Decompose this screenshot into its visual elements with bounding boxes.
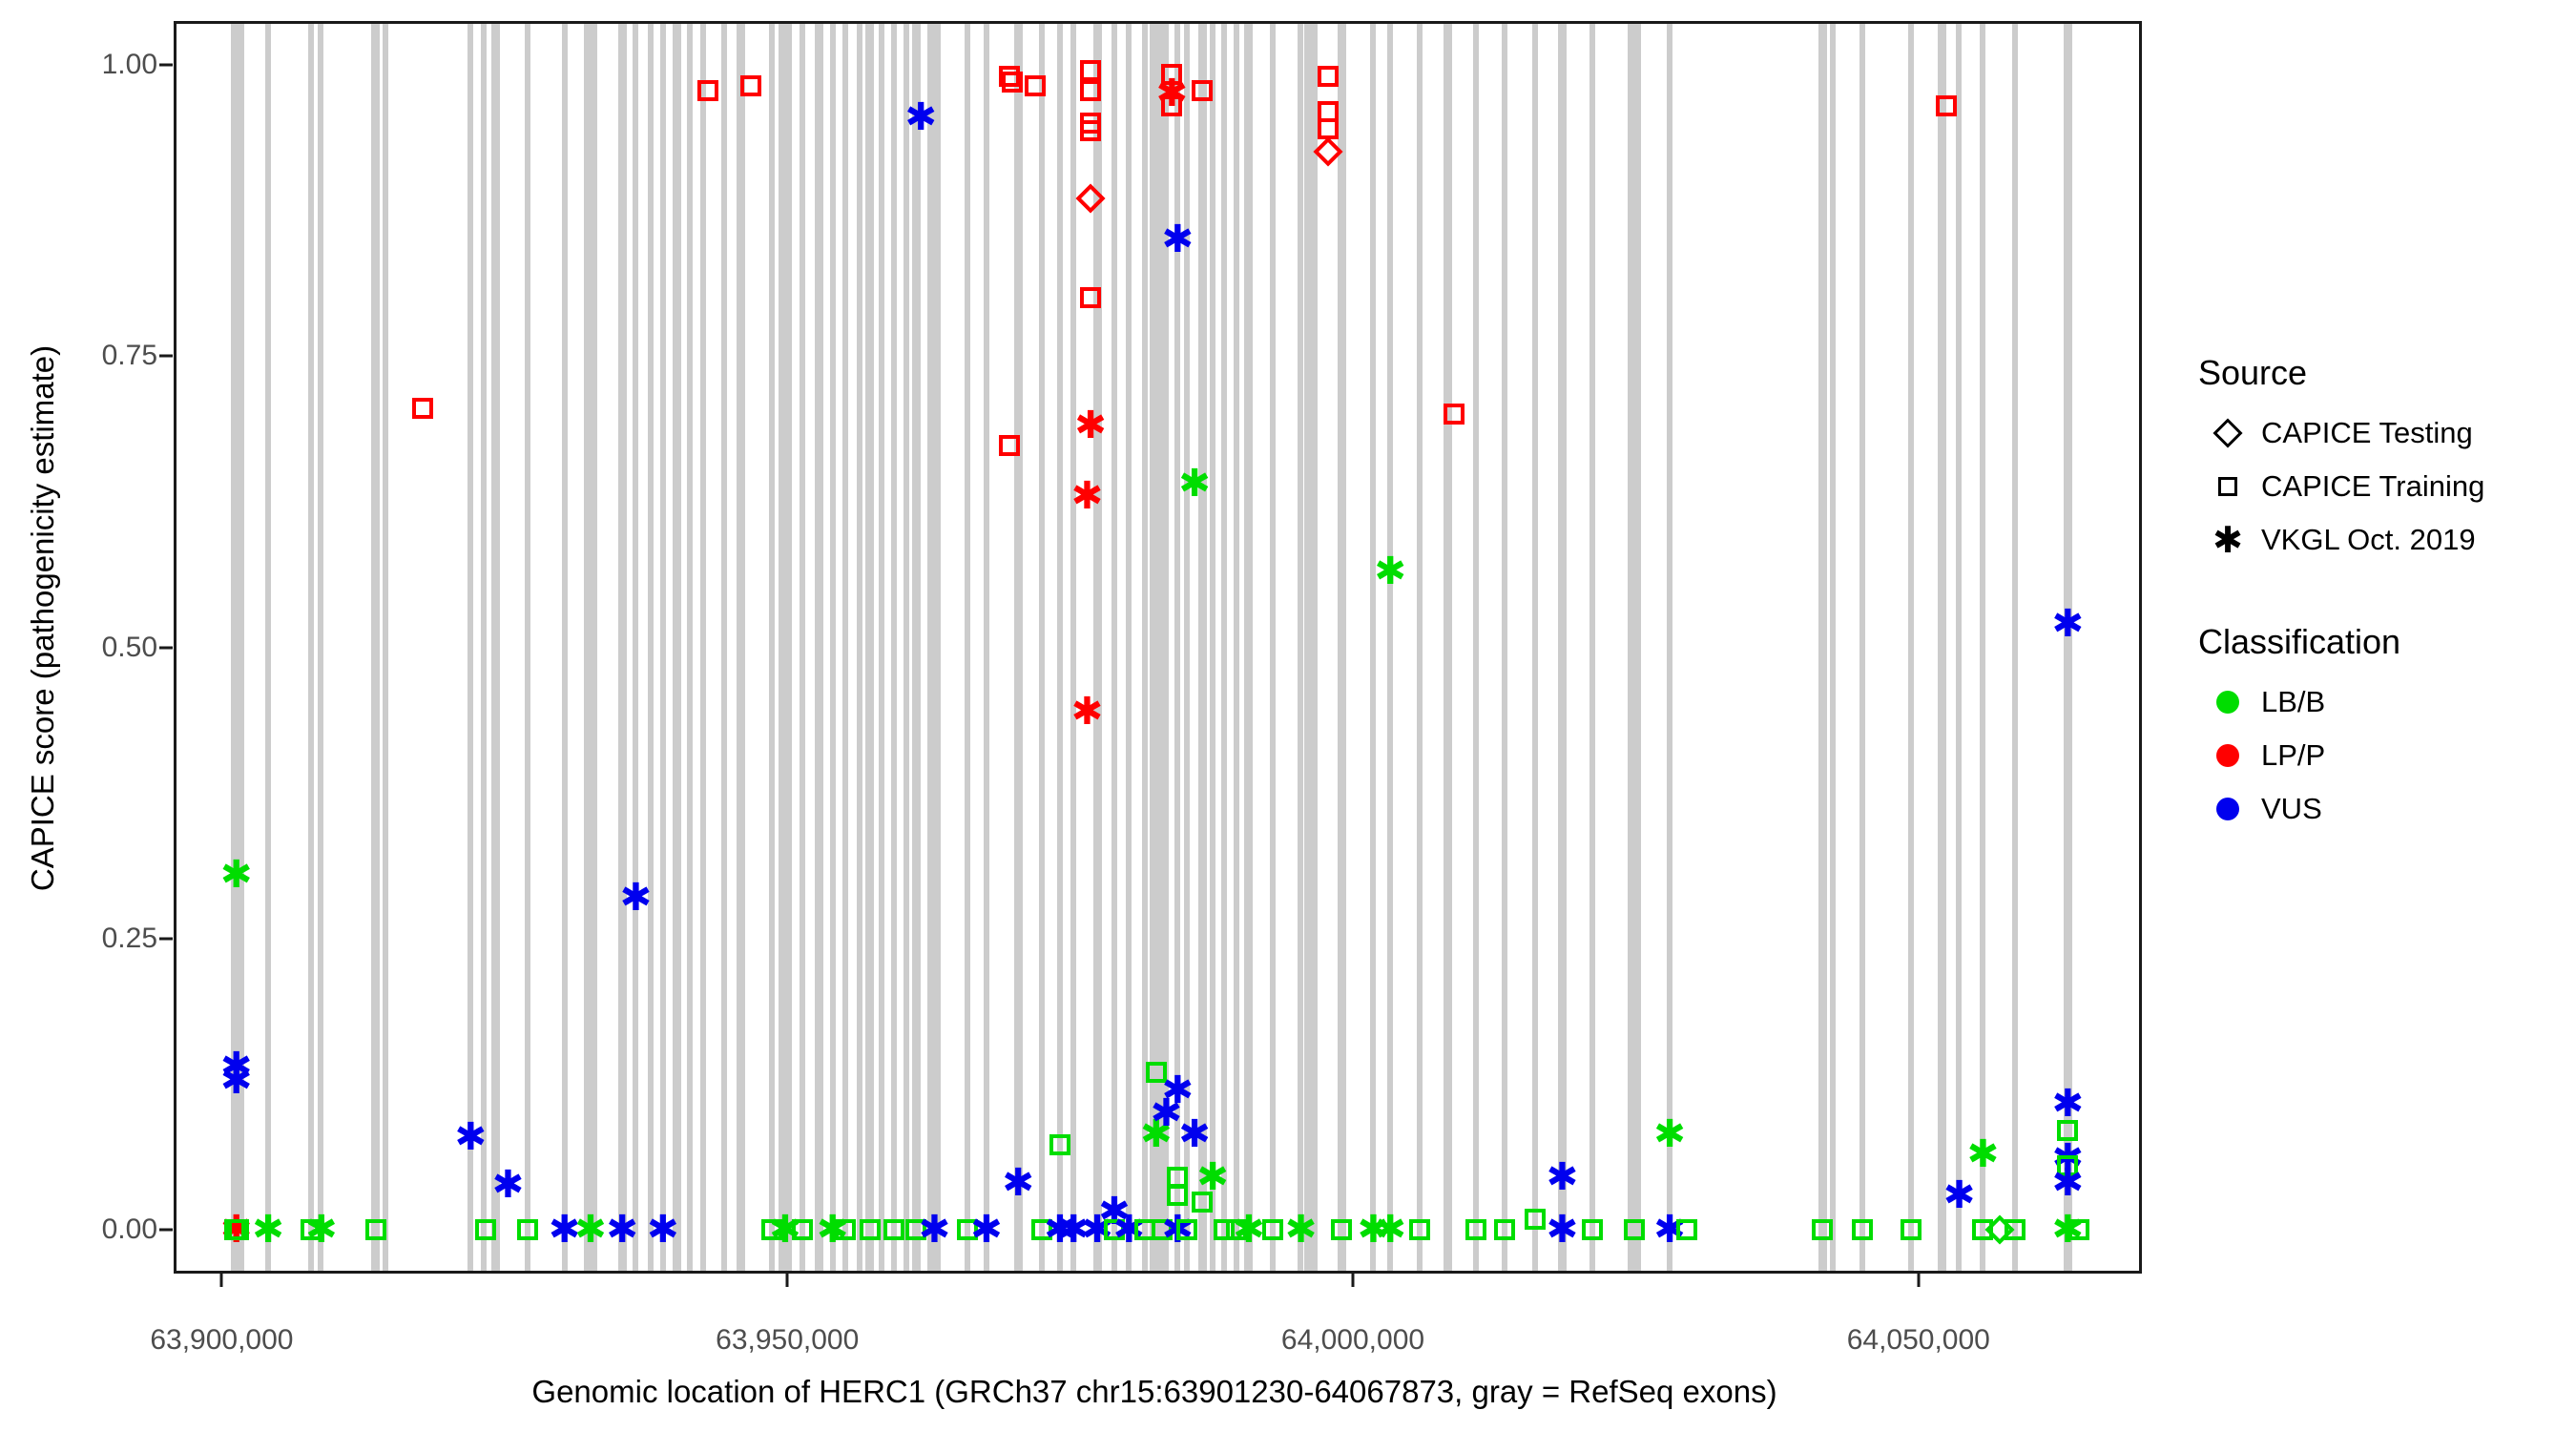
exon-bar — [1667, 24, 1672, 1271]
data-point-square — [1676, 1219, 1697, 1240]
exon-bar — [700, 24, 706, 1271]
exon-bar — [1908, 24, 1914, 1271]
x-tick-label: 63,950,000 — [716, 1324, 859, 1357]
exon-bar — [1234, 24, 1239, 1271]
exon-bar — [562, 24, 568, 1271]
exon-bar — [1818, 24, 1827, 1271]
exon-bar — [1221, 24, 1227, 1271]
plot-panel: ✱✱✱✱✱✱✱✱✱✱✱✱✱✱✱✱✱✱✱✱✱✱✱✱✱✱✱✱✱✱✱✱✱✱✱✱✱✱✱✱… — [174, 21, 2142, 1274]
legend-item-diamond[interactable]: CAPICE Testing — [2194, 406, 2576, 460]
data-point-asterisk: ✱ — [1155, 77, 1188, 110]
data-point-asterisk: ✱ — [1178, 467, 1211, 500]
data-point-asterisk: ✱ — [1070, 695, 1103, 728]
exon-bar — [1093, 24, 1102, 1271]
data-point-square — [1080, 80, 1101, 101]
exon-bar — [1628, 24, 1641, 1271]
exon-bar — [879, 24, 884, 1271]
data-point-asterisk: ✱ — [574, 1213, 607, 1246]
exon-bar — [830, 24, 836, 1271]
exon-bar — [1070, 24, 1076, 1271]
data-point-square — [1409, 1219, 1430, 1240]
y-tick-label: 0.50 — [102, 632, 157, 664]
data-point-square — [1812, 1219, 1833, 1240]
x-tick-label: 64,050,000 — [1847, 1324, 1990, 1357]
color-dot-icon — [2194, 798, 2261, 820]
data-point-asterisk: ✱ — [220, 859, 253, 891]
data-point-square — [792, 1219, 813, 1240]
data-point-asterisk: ✱ — [1546, 1161, 1578, 1193]
legend-item-square[interactable]: CAPICE Training — [2194, 460, 2576, 513]
data-point-asterisk: ✱ — [2051, 1088, 2084, 1120]
data-point-square — [1852, 1219, 1873, 1240]
exon-bar — [1014, 24, 1023, 1271]
exon-bar — [865, 24, 874, 1271]
exon-bar — [984, 24, 989, 1271]
data-point-asterisk: ✱ — [454, 1121, 487, 1153]
exon-bar — [912, 24, 921, 1271]
asterisk-icon: ✱ — [2194, 522, 2261, 558]
exon-bar — [891, 24, 897, 1271]
y-tick-mark — [159, 646, 173, 649]
data-point-asterisk: ✱ — [491, 1169, 524, 1201]
x-tick-label: 63,900,000 — [150, 1324, 293, 1357]
y-axis-label: CAPICE score (pathogenicity estimate) — [25, 141, 61, 1095]
exon-bar — [648, 24, 654, 1271]
exon-bar — [318, 24, 323, 1271]
data-point-asterisk: ✱ — [252, 1213, 284, 1246]
data-point-square — [2005, 1219, 2025, 1240]
data-point-square — [475, 1219, 496, 1240]
legend-item-label: LP/P — [2261, 738, 2325, 773]
data-point-asterisk: ✱ — [606, 1213, 638, 1246]
exon-bar — [1473, 24, 1479, 1271]
exon-bar — [673, 24, 681, 1271]
data-point-square — [835, 1219, 856, 1240]
data-point-square — [1049, 1134, 1070, 1155]
legend-item-lp-p[interactable]: LP/P — [2194, 729, 2576, 782]
legend-group-classification: Classification LB/BLP/PVUS — [2194, 622, 2576, 836]
legend-source-items: CAPICE TestingCAPICE Training✱VKGL Oct. … — [2194, 406, 2576, 567]
y-tick-mark — [159, 1229, 173, 1232]
data-point-asterisk: ✱ — [1374, 1213, 1406, 1246]
data-point-square — [1494, 1219, 1515, 1240]
legend-item-label: VUS — [2261, 792, 2322, 826]
data-point-asterisk: ✱ — [619, 881, 652, 914]
legend-item-lb-b[interactable]: LB/B — [2194, 675, 2576, 729]
exon-bar — [1270, 24, 1276, 1271]
exon-bar — [491, 24, 500, 1271]
exon-bar — [371, 24, 380, 1271]
data-point-asterisk: ✱ — [2051, 1167, 2084, 1199]
data-point-asterisk: ✱ — [1196, 1161, 1229, 1193]
exon-bar — [1938, 24, 1946, 1271]
data-point-asterisk: ✱ — [1284, 1213, 1317, 1246]
data-point-square — [365, 1219, 386, 1240]
y-tick-mark — [159, 937, 173, 940]
x-tick-mark — [1352, 1274, 1355, 1287]
data-point-square — [228, 1219, 249, 1240]
exon-bar — [1111, 24, 1117, 1271]
color-dot-icon — [2194, 744, 2261, 767]
data-point-square — [1192, 80, 1213, 101]
data-point-square — [697, 80, 718, 101]
legend-group-source: Source CAPICE TestingCAPICE Training✱VKG… — [2194, 353, 2576, 567]
x-axis-label: Genomic location of HERC1 (GRCh37 chr15:… — [0, 1374, 2309, 1410]
exon-bar — [1444, 24, 1452, 1271]
data-point-asterisk: ✱ — [918, 1213, 950, 1246]
data-point-asterisk: ✱ — [1074, 409, 1107, 442]
exon-bar — [383, 24, 388, 1271]
exon-bar — [779, 24, 792, 1271]
data-point-asterisk: ✱ — [1002, 1167, 1034, 1199]
data-point-square — [740, 75, 761, 96]
data-point-square — [1444, 404, 1465, 425]
exon-bar — [2012, 24, 2018, 1271]
data-point-asterisk: ✱ — [1966, 1138, 1999, 1171]
exon-bar — [1039, 24, 1045, 1271]
data-point-square — [1080, 120, 1101, 141]
exon-bar — [769, 24, 775, 1271]
data-point-square — [1465, 1219, 1486, 1240]
x-tick-label: 64,000,000 — [1281, 1324, 1424, 1357]
exon-bar — [737, 24, 745, 1271]
data-point-asterisk: ✱ — [1653, 1118, 1686, 1151]
legend-title-classification: Classification — [2198, 622, 2576, 662]
data-point-square — [999, 435, 1020, 456]
exon-bar — [633, 24, 638, 1271]
exon-bar — [1830, 24, 1836, 1271]
legend-item-vus[interactable]: VUS — [2194, 782, 2576, 836]
data-point-asterisk: ✱ — [970, 1213, 1003, 1246]
exon-bar — [1338, 24, 1346, 1271]
capice-scatter-figure: CAPICE score (pathogenicity estimate) 0.… — [0, 0, 2576, 1431]
exon-bar — [904, 24, 909, 1271]
data-point-square — [1262, 1219, 1283, 1240]
exon-bar — [1417, 24, 1423, 1271]
data-point-asterisk: ✱ — [904, 101, 937, 134]
y-tick-mark — [159, 63, 173, 66]
exon-bar — [1589, 24, 1595, 1271]
exon-bar — [1980, 24, 1985, 1271]
exon-bar — [721, 24, 727, 1271]
legend-item-label: LB/B — [2261, 685, 2325, 719]
data-point-square — [1080, 60, 1101, 81]
data-point-square — [412, 398, 433, 419]
exon-bar — [584, 24, 597, 1271]
data-point-asterisk: ✱ — [2051, 608, 2084, 640]
exon-bar — [1210, 24, 1215, 1271]
exon-bar — [481, 24, 487, 1271]
legend-item-label: VKGL Oct. 2019 — [2261, 523, 2476, 557]
legend: Source CAPICE TestingCAPICE Training✱VKG… — [2194, 353, 2576, 891]
exon-bar — [1532, 24, 1538, 1271]
legend-classification-items: LB/BLP/PVUS — [2194, 675, 2576, 836]
exon-bar — [1126, 24, 1132, 1271]
y-tick-mark — [159, 355, 173, 358]
x-tick-mark — [220, 1274, 223, 1287]
data-point-asterisk: ✱ — [1942, 1179, 1975, 1212]
exon-bar — [308, 24, 314, 1271]
exon-bar — [1370, 24, 1376, 1271]
exon-bar — [842, 24, 848, 1271]
data-point-asterisk: ✱ — [1161, 223, 1194, 256]
exon-bar — [618, 24, 627, 1271]
data-point-square — [860, 1219, 881, 1240]
data-point-asterisk: ✱ — [1178, 1118, 1211, 1151]
x-tick-mark — [1917, 1274, 1920, 1287]
y-tick-label: 0.00 — [102, 1213, 157, 1246]
x-tick-mark — [786, 1274, 789, 1287]
legend-item-asterisk[interactable]: ✱VKGL Oct. 2019 — [2194, 513, 2576, 567]
data-point-asterisk: ✱ — [305, 1213, 338, 1246]
data-point-asterisk: ✱ — [1233, 1213, 1265, 1246]
data-point-square — [2068, 1219, 2089, 1240]
data-point-square — [1002, 72, 1023, 93]
data-point-asterisk: ✱ — [220, 1065, 253, 1097]
data-point-asterisk: ✱ — [1070, 480, 1103, 512]
exon-bar — [467, 24, 473, 1271]
data-point-square — [1936, 95, 1957, 116]
y-tick-label: 0.75 — [102, 340, 157, 372]
data-point-square — [1318, 66, 1339, 87]
data-point-asterisk: ✱ — [1161, 1074, 1194, 1107]
data-point-square — [1080, 287, 1101, 308]
diamond-icon — [2194, 423, 2261, 444]
exon-bar — [660, 24, 666, 1271]
data-point-square — [883, 1219, 904, 1240]
data-point-asterisk: ✱ — [1546, 1213, 1578, 1246]
data-point-square — [1176, 1219, 1197, 1240]
legend-item-label: CAPICE Training — [2261, 469, 2484, 504]
data-point-square — [1624, 1219, 1645, 1240]
exon-bar — [525, 24, 530, 1271]
exon-bar — [687, 24, 693, 1271]
exon-bar — [1558, 24, 1567, 1271]
exon-bar — [1304, 24, 1318, 1271]
exon-bar — [1244, 24, 1253, 1271]
data-point-asterisk: ✱ — [647, 1213, 679, 1246]
data-point-square — [1167, 1185, 1188, 1206]
exon-bar — [927, 24, 941, 1271]
y-tick-label: 1.00 — [102, 49, 157, 81]
data-point-square — [517, 1219, 538, 1240]
exon-bar — [965, 24, 970, 1271]
data-point-square — [1025, 75, 1046, 96]
exon-bar — [1859, 24, 1865, 1271]
exon-bar — [1298, 24, 1303, 1271]
square-icon — [2194, 477, 2261, 496]
exon-bar — [1057, 24, 1063, 1271]
exon-bar — [857, 24, 862, 1271]
plot-area: ✱✱✱✱✱✱✱✱✱✱✱✱✱✱✱✱✱✱✱✱✱✱✱✱✱✱✱✱✱✱✱✱✱✱✱✱✱✱✱✱… — [177, 24, 2139, 1271]
data-point-square — [1331, 1219, 1352, 1240]
legend-item-label: CAPICE Testing — [2261, 416, 2473, 450]
exon-bar — [1502, 24, 1507, 1271]
exon-bar — [1142, 24, 1148, 1271]
color-dot-icon — [2194, 691, 2261, 714]
exon-bar — [1198, 24, 1207, 1271]
exon-bar — [1387, 24, 1393, 1271]
data-point-square — [1525, 1209, 1546, 1230]
data-point-square — [1582, 1219, 1603, 1240]
exon-bar — [815, 24, 823, 1271]
legend-title-source: Source — [2198, 353, 2576, 393]
data-point-asterisk: ✱ — [1374, 555, 1406, 588]
exon-bar — [800, 24, 805, 1271]
y-tick-label: 0.25 — [102, 923, 157, 955]
data-point-square — [1901, 1219, 1922, 1240]
exon-bar — [265, 24, 271, 1271]
exon-bar — [1956, 24, 1962, 1271]
